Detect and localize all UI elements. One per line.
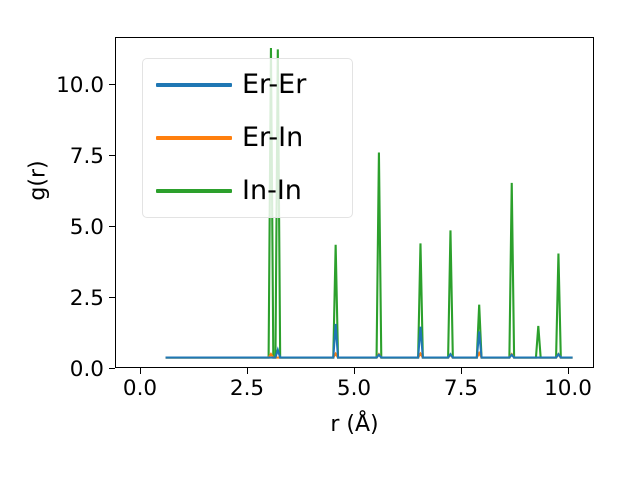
x-tick-label-2: 5.0 bbox=[299, 376, 409, 401]
legend-item-in-in[interactable]: In-In bbox=[143, 165, 354, 217]
figure-canvas: 0.0 2.5 5.0 7.5 10.0 0.0 2.5 5.0 7.5 10.… bbox=[0, 0, 640, 480]
x-tick-mark bbox=[140, 368, 141, 374]
legend-item-er-in[interactable]: Er-In bbox=[143, 112, 354, 164]
legend-label-er-in: Er-In bbox=[242, 118, 303, 158]
x-tick-label-4: 10.0 bbox=[513, 376, 623, 401]
legend-label-in-in: In-In bbox=[242, 171, 302, 211]
legend-swatch-er-er bbox=[156, 83, 232, 87]
y-axis-label: g(r) bbox=[26, 121, 51, 241]
x-tick-label-3: 7.5 bbox=[406, 376, 516, 401]
legend-label-er-er: Er-Er bbox=[242, 65, 306, 105]
x-tick-mark bbox=[568, 368, 569, 374]
legend-swatch-er-in bbox=[156, 136, 232, 140]
x-tick-mark bbox=[461, 368, 462, 374]
x-tick-mark bbox=[354, 368, 355, 374]
x-tick-mark bbox=[247, 368, 248, 374]
x-tick-label-1: 2.5 bbox=[192, 376, 302, 401]
x-tick-label-0: 0.0 bbox=[85, 376, 195, 401]
legend: Er-Er Er-In In-In bbox=[142, 58, 353, 218]
x-axis-label: r (Å) bbox=[115, 412, 594, 437]
legend-item-er-er[interactable]: Er-Er bbox=[143, 59, 354, 111]
legend-swatch-in-in bbox=[156, 189, 232, 193]
